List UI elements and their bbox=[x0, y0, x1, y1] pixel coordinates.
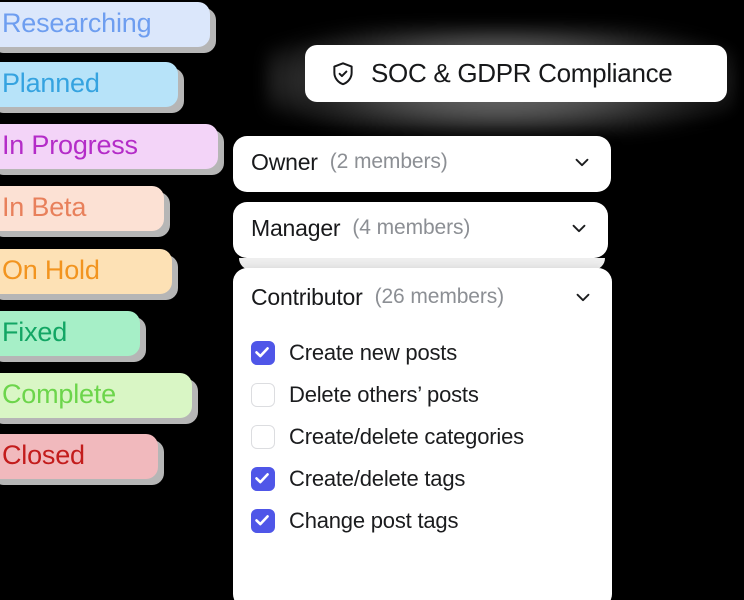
chevron-down-icon[interactable] bbox=[572, 286, 594, 308]
role-member-count-owner: (2 members) bbox=[330, 150, 448, 174]
soc-gdpr-compliance-badge[interactable]: SOC & GDPR Compliance bbox=[305, 45, 727, 102]
status-tag[interactable]: Fixed bbox=[0, 311, 140, 356]
checkbox-unchecked[interactable] bbox=[251, 425, 275, 449]
permission-label: Delete others’ posts bbox=[289, 382, 479, 408]
status-tag[interactable]: On Hold bbox=[0, 249, 172, 294]
check-icon bbox=[250, 340, 274, 364]
chevron-down-icon[interactable] bbox=[568, 217, 590, 239]
permission-row[interactable]: Delete others’ posts bbox=[251, 374, 612, 416]
role-member-count-contributor: (26 members) bbox=[375, 285, 505, 309]
role-name-contributor: Contributor bbox=[251, 284, 363, 311]
role-header-manager[interactable]: Manager (4 members) bbox=[233, 202, 608, 254]
screenshot-canvas: ResearchingPlannedIn ProgressIn BetaOn H… bbox=[0, 0, 744, 600]
status-tag[interactable]: In Beta bbox=[0, 186, 164, 231]
role-header-contributor[interactable]: Contributor (26 members) bbox=[233, 268, 612, 326]
checkbox-checked[interactable] bbox=[251, 509, 275, 533]
role-card-contributor[interactable]: Contributor (26 members) Create new post… bbox=[233, 268, 612, 600]
permission-row[interactable]: Create/delete categories bbox=[251, 416, 612, 458]
role-card-owner[interactable]: Owner (2 members) bbox=[233, 136, 611, 192]
permission-label: Create/delete tags bbox=[289, 466, 465, 492]
permission-label: Create new posts bbox=[289, 340, 457, 366]
checkbox-checked[interactable] bbox=[251, 341, 275, 365]
status-tag-list: ResearchingPlannedIn ProgressIn BetaOn H… bbox=[0, 0, 230, 600]
role-header-owner[interactable]: Owner (2 members) bbox=[233, 136, 611, 188]
role-name-manager: Manager bbox=[251, 215, 340, 242]
permission-checkbox-list: Create new postsDelete others’ postsCrea… bbox=[233, 326, 612, 542]
status-tag[interactable]: Planned bbox=[0, 62, 178, 107]
checkbox-checked[interactable] bbox=[251, 467, 275, 491]
status-tag[interactable]: Closed bbox=[0, 434, 158, 479]
role-name-owner: Owner bbox=[251, 149, 318, 176]
status-tag[interactable]: Researching bbox=[0, 2, 210, 47]
check-icon bbox=[250, 466, 274, 490]
shield-check-icon bbox=[329, 60, 357, 88]
compliance-badge-label: SOC & GDPR Compliance bbox=[371, 58, 672, 89]
role-card-manager[interactable]: Manager (4 members) bbox=[233, 202, 608, 258]
role-member-count-manager: (4 members) bbox=[352, 216, 470, 240]
permission-label: Change post tags bbox=[289, 508, 458, 534]
permission-row[interactable]: Change post tags bbox=[251, 500, 612, 542]
checkbox-unchecked[interactable] bbox=[251, 383, 275, 407]
status-tag[interactable]: In Progress bbox=[0, 124, 218, 169]
permission-row[interactable]: Create new posts bbox=[251, 332, 612, 374]
permission-row[interactable]: Create/delete tags bbox=[251, 458, 612, 500]
status-tag[interactable]: Complete bbox=[0, 373, 192, 418]
check-icon bbox=[250, 508, 274, 532]
chevron-down-icon[interactable] bbox=[571, 151, 593, 173]
permission-label: Create/delete categories bbox=[289, 424, 524, 450]
